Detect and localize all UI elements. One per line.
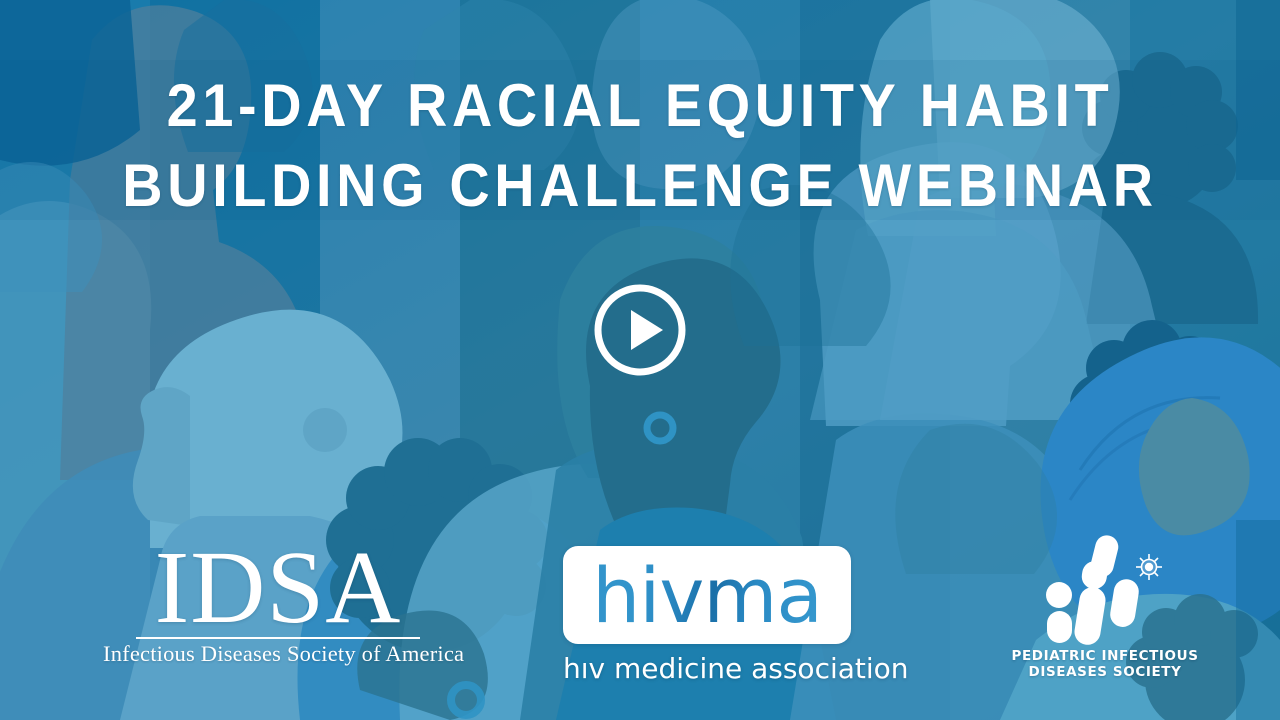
pids-logo: PEDIATRIC INFECTIOUS DISEASES SOCIETY: [1010, 533, 1200, 680]
pids-figures-icon: [1030, 533, 1180, 645]
idsa-logo: IDSA Infectious Diseases Society of Amer…: [103, 540, 453, 666]
webinar-video-thumbnail: 21-DAY RACIAL EQUITY HABIT BUILDING CHAL…: [0, 0, 1280, 720]
pids-tagline-line-2: DISEASES SOCIETY: [1010, 664, 1200, 680]
starburst-icon: [1136, 554, 1162, 580]
hivma-logo: hivma hıv medicine association: [563, 546, 853, 685]
hivma-tagline: hıv medicine association: [563, 653, 853, 685]
play-icon[interactable]: [594, 284, 686, 376]
pids-tagline-line-1: PEDIATRIC INFECTIOUS: [1010, 648, 1200, 664]
idsa-tagline: Infectious Diseases Society of America: [103, 642, 453, 666]
idsa-wordmark: IDSA: [103, 540, 453, 636]
hivma-wordmark-box: hivma: [563, 546, 851, 644]
hivma-wordmark: hivma: [563, 552, 851, 640]
play-button[interactable]: [594, 284, 686, 376]
sponsor-logo-row: IDSA Infectious Diseases Society of Amer…: [0, 525, 1280, 705]
pids-tagline: PEDIATRIC INFECTIOUS DISEASES SOCIETY: [1010, 648, 1200, 680]
